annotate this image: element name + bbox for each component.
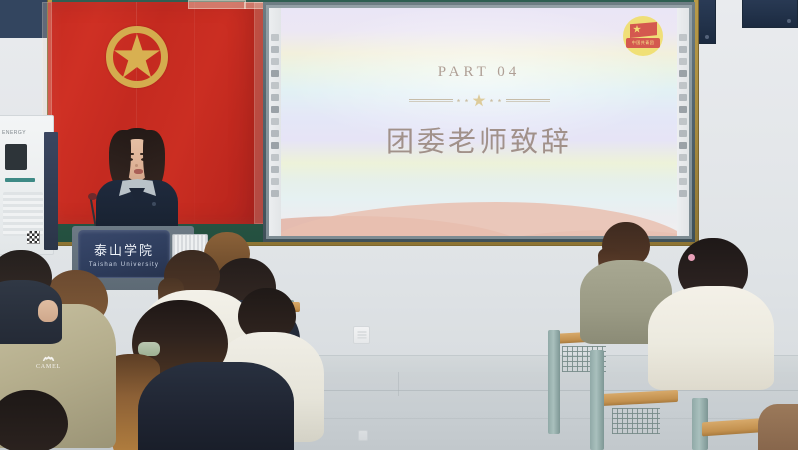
classroom-scene: 中国共青团 PART 04 团委老师致辞 — [0, 0, 798, 450]
presenter-sweater-logo — [152, 202, 156, 206]
toolbar-icon-more[interactable] — [271, 178, 279, 185]
presenter-hair-left — [109, 130, 131, 186]
wall-outlet — [353, 326, 370, 344]
slide-title: 团委老师致辞 — [281, 120, 677, 160]
divider-line-left — [409, 99, 453, 102]
divider-star-3 — [490, 99, 494, 103]
whiteboard-toolbar-left[interactable] — [269, 8, 281, 236]
toolbar-icon-capture[interactable] — [271, 154, 279, 161]
toolbar-icon-page[interactable] — [271, 118, 279, 125]
toolbar-r-icon-eraser[interactable] — [679, 58, 687, 65]
toolbar-r-icon-pointer[interactable] — [679, 34, 687, 41]
toolbar-r-icon-zoom[interactable] — [679, 166, 687, 173]
toolbar-icon-save[interactable] — [271, 130, 279, 137]
toolbar-icon-zoom[interactable] — [271, 166, 279, 173]
badge-ribbon-text: 中国共青团 — [626, 38, 660, 48]
toolbar-r-icon-shapes[interactable] — [679, 70, 687, 77]
floor-outlet-reflection — [358, 430, 368, 441]
slide-youth-league-badge: 中国共青团 — [623, 16, 663, 56]
jacket-brand-label: CAMEL — [36, 364, 61, 370]
audience-person-5 — [108, 300, 288, 450]
toolbar-icon-redo[interactable] — [271, 106, 279, 113]
device-vent — [3, 192, 43, 236]
divider-center-star — [473, 94, 486, 107]
toolbar-r-icon-save[interactable] — [679, 130, 687, 137]
toolbar-icon-pointer[interactable] — [271, 34, 279, 41]
toolbar-r-icon-text[interactable] — [679, 82, 687, 89]
toolbar-r-icon-more[interactable] — [679, 178, 687, 185]
toolbar-icon-undo[interactable] — [271, 94, 279, 101]
toolbar-r-icon-page[interactable] — [679, 118, 687, 125]
audience-person-9 — [648, 238, 774, 388]
toolbar-r-icon-pen[interactable] — [679, 46, 687, 53]
chair-basket-right-2 — [612, 408, 660, 434]
slide-part-label: PART 04 — [281, 64, 677, 81]
toolbar-r-icon-redo[interactable] — [679, 106, 687, 113]
slide-star-divider — [281, 94, 677, 107]
hair-clip — [688, 254, 695, 261]
wall-device-side-panel — [44, 132, 58, 250]
toolbar-icon-exit[interactable] — [271, 190, 279, 197]
toolbar-icon-settings[interactable] — [271, 142, 279, 149]
toolbar-icon-eraser[interactable] — [271, 58, 279, 65]
device-label: ENERGY — [2, 130, 26, 136]
device-indicator-strip — [5, 178, 35, 182]
device-qr-code — [27, 231, 40, 244]
toolbar-icon-text[interactable] — [271, 82, 279, 89]
toolbar-r-icon-capture[interactable] — [679, 154, 687, 161]
flag-tape-top — [188, 0, 246, 9]
divider-line-right — [506, 99, 550, 102]
audience-person-11 — [0, 390, 70, 450]
device-display — [5, 144, 27, 170]
divider-star-4 — [498, 99, 502, 103]
toolbar-icon-pen[interactable] — [271, 46, 279, 53]
audience-person-10 — [758, 404, 798, 450]
toolbar-icon-shapes[interactable] — [271, 70, 279, 77]
youth-league-star-emblem — [106, 26, 168, 88]
whiteboard-screen[interactable]: 中国共青团 PART 04 团委老师致辞 — [269, 8, 689, 236]
projected-slide: 中国共青团 PART 04 团委老师致辞 — [281, 8, 677, 236]
divider-star-1 — [457, 99, 461, 103]
speaker-at-podium — [96, 128, 178, 240]
wall-speaker-far-right — [742, 0, 798, 28]
toolbar-r-icon-settings[interactable] — [679, 142, 687, 149]
chair-post-right-1 — [548, 330, 560, 434]
audience-hand — [38, 300, 58, 322]
toolbar-r-icon-exit[interactable] — [679, 190, 687, 197]
divider-star-2 — [465, 99, 469, 103]
chair-post-right-2 — [590, 350, 604, 450]
whiteboard-toolbar-right[interactable] — [677, 8, 689, 236]
toolbar-r-icon-undo[interactable] — [679, 94, 687, 101]
